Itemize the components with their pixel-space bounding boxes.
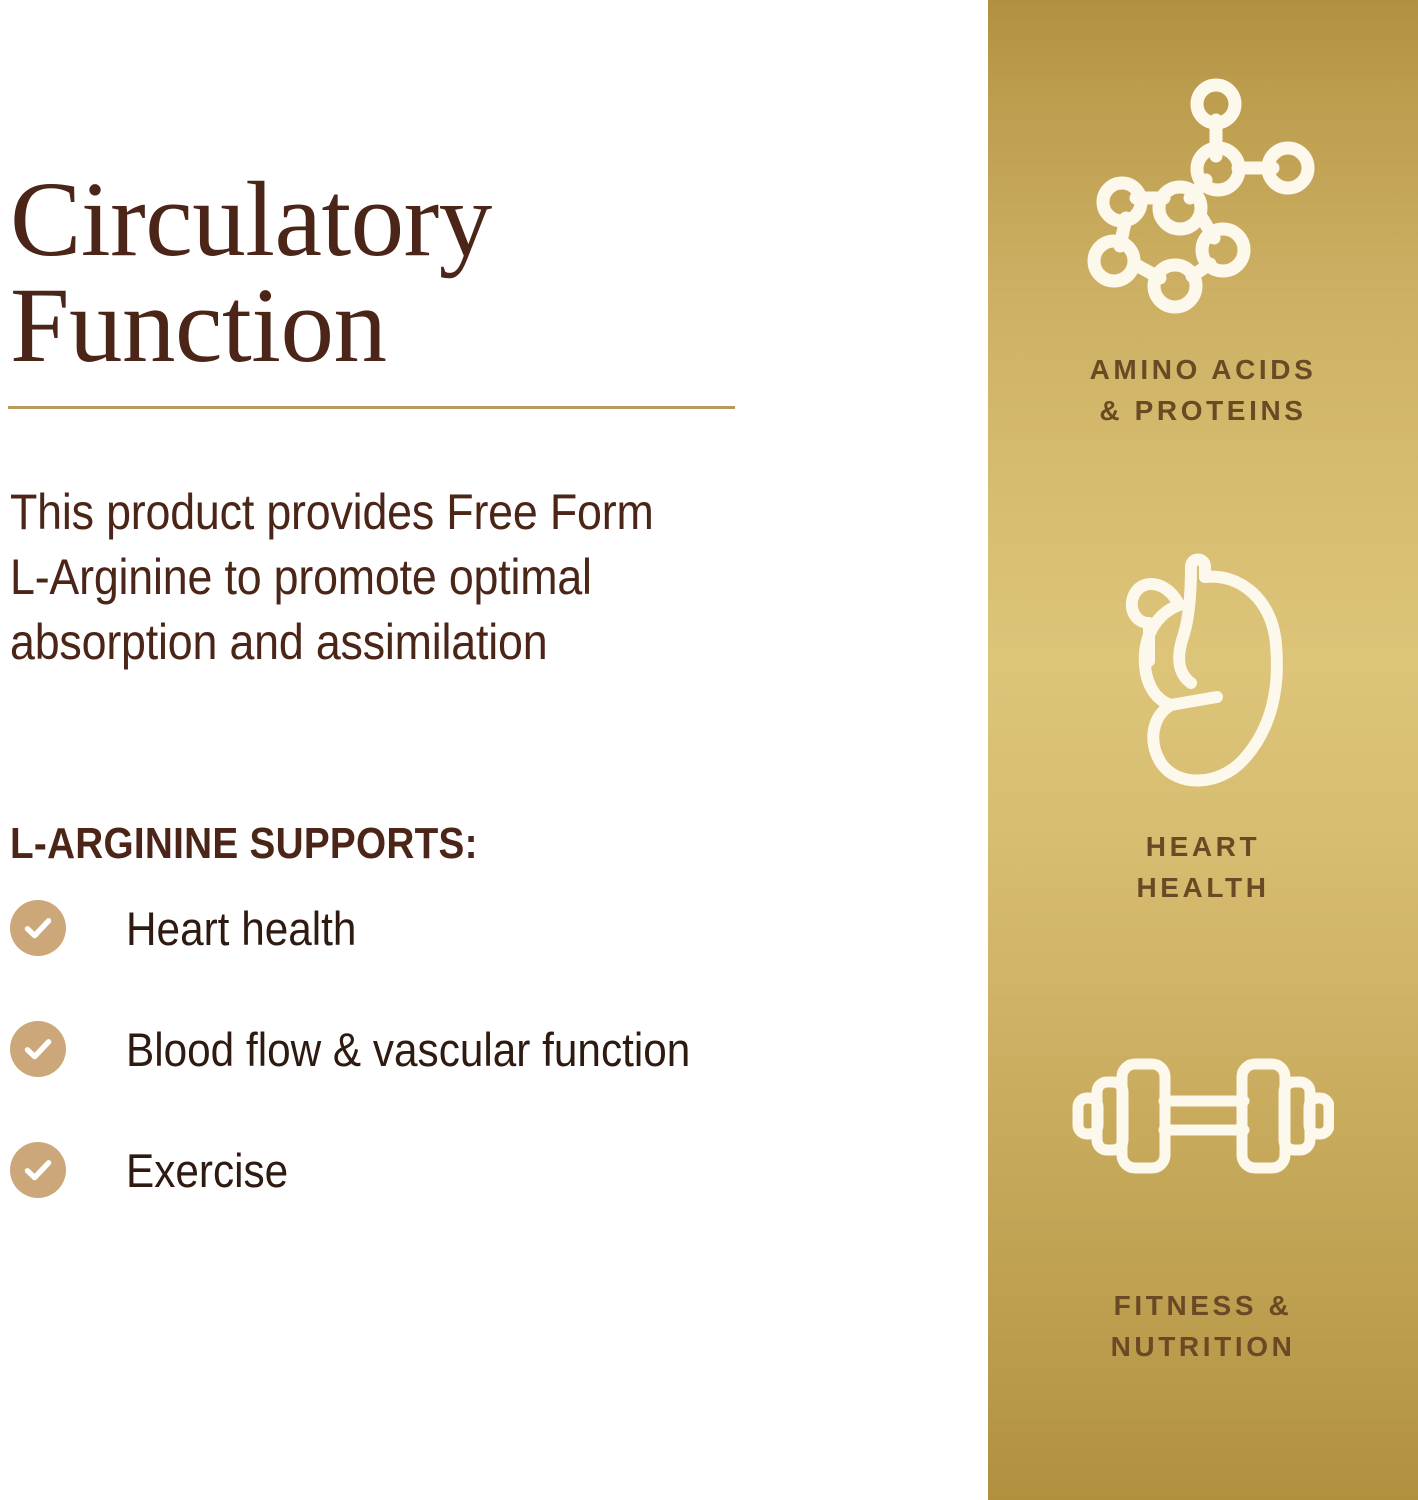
molecule-icon	[1078, 78, 1328, 328]
feature-label-line-2: & PROTEINS	[1090, 391, 1317, 432]
feature-label: FITNESS & NUTRITION	[1111, 1286, 1296, 1367]
title-divider	[8, 406, 735, 409]
feature-label-line-2: NUTRITION	[1111, 1327, 1296, 1368]
intro-line-3: absorption and assimilation	[10, 610, 824, 675]
page-title-line-1: Circulatory	[10, 168, 910, 274]
list-item-label: Blood flow & vascular function	[126, 1026, 690, 1073]
feature-label-line-1: AMINO ACIDS	[1090, 350, 1317, 391]
product-feature-panel: Circulatory Function This product provid…	[0, 0, 1418, 1500]
feature-sidebar: AMINO ACIDS & PROTEINS	[988, 0, 1418, 1500]
anatomical-heart-icon	[1101, 549, 1306, 799]
feature-amino-acids: AMINO ACIDS & PROTEINS	[988, 78, 1418, 431]
intro-line-2: L-Arginine to promote optimal	[10, 545, 824, 610]
feature-fitness-nutrition: FITNESS & NUTRITION	[988, 1026, 1418, 1367]
list-item: Exercise	[10, 1142, 950, 1198]
list-item: Heart health	[10, 900, 950, 956]
supports-heading: L-ARGININE SUPPORTS:	[10, 819, 478, 869]
intro-line-1: This product provides Free Form	[10, 480, 824, 545]
benefit-list: Heart health Blood flow & vascular funct…	[10, 900, 950, 1263]
list-item-label: Heart health	[126, 905, 356, 952]
list-item-label: Exercise	[126, 1147, 288, 1194]
page-title-line-2: Function	[10, 274, 910, 380]
dumbbell-icon	[1072, 1026, 1334, 1206]
feature-label: HEART HEALTH	[1136, 827, 1269, 908]
page-title: Circulatory Function	[10, 168, 910, 380]
list-item: Blood flow & vascular function	[10, 1021, 950, 1077]
feature-label-line-1: FITNESS &	[1111, 1286, 1296, 1327]
check-icon	[10, 1021, 66, 1077]
left-content-column: Circulatory Function This product provid…	[0, 0, 988, 1500]
check-icon	[10, 1142, 66, 1198]
feature-label: AMINO ACIDS & PROTEINS	[1090, 350, 1317, 431]
feature-heart-health: HEART HEALTH	[988, 549, 1418, 908]
feature-label-line-2: HEALTH	[1136, 868, 1269, 909]
intro-paragraph: This product provides Free Form L-Argini…	[10, 480, 824, 675]
feature-label-line-1: HEART	[1136, 827, 1269, 868]
check-icon	[10, 900, 66, 956]
